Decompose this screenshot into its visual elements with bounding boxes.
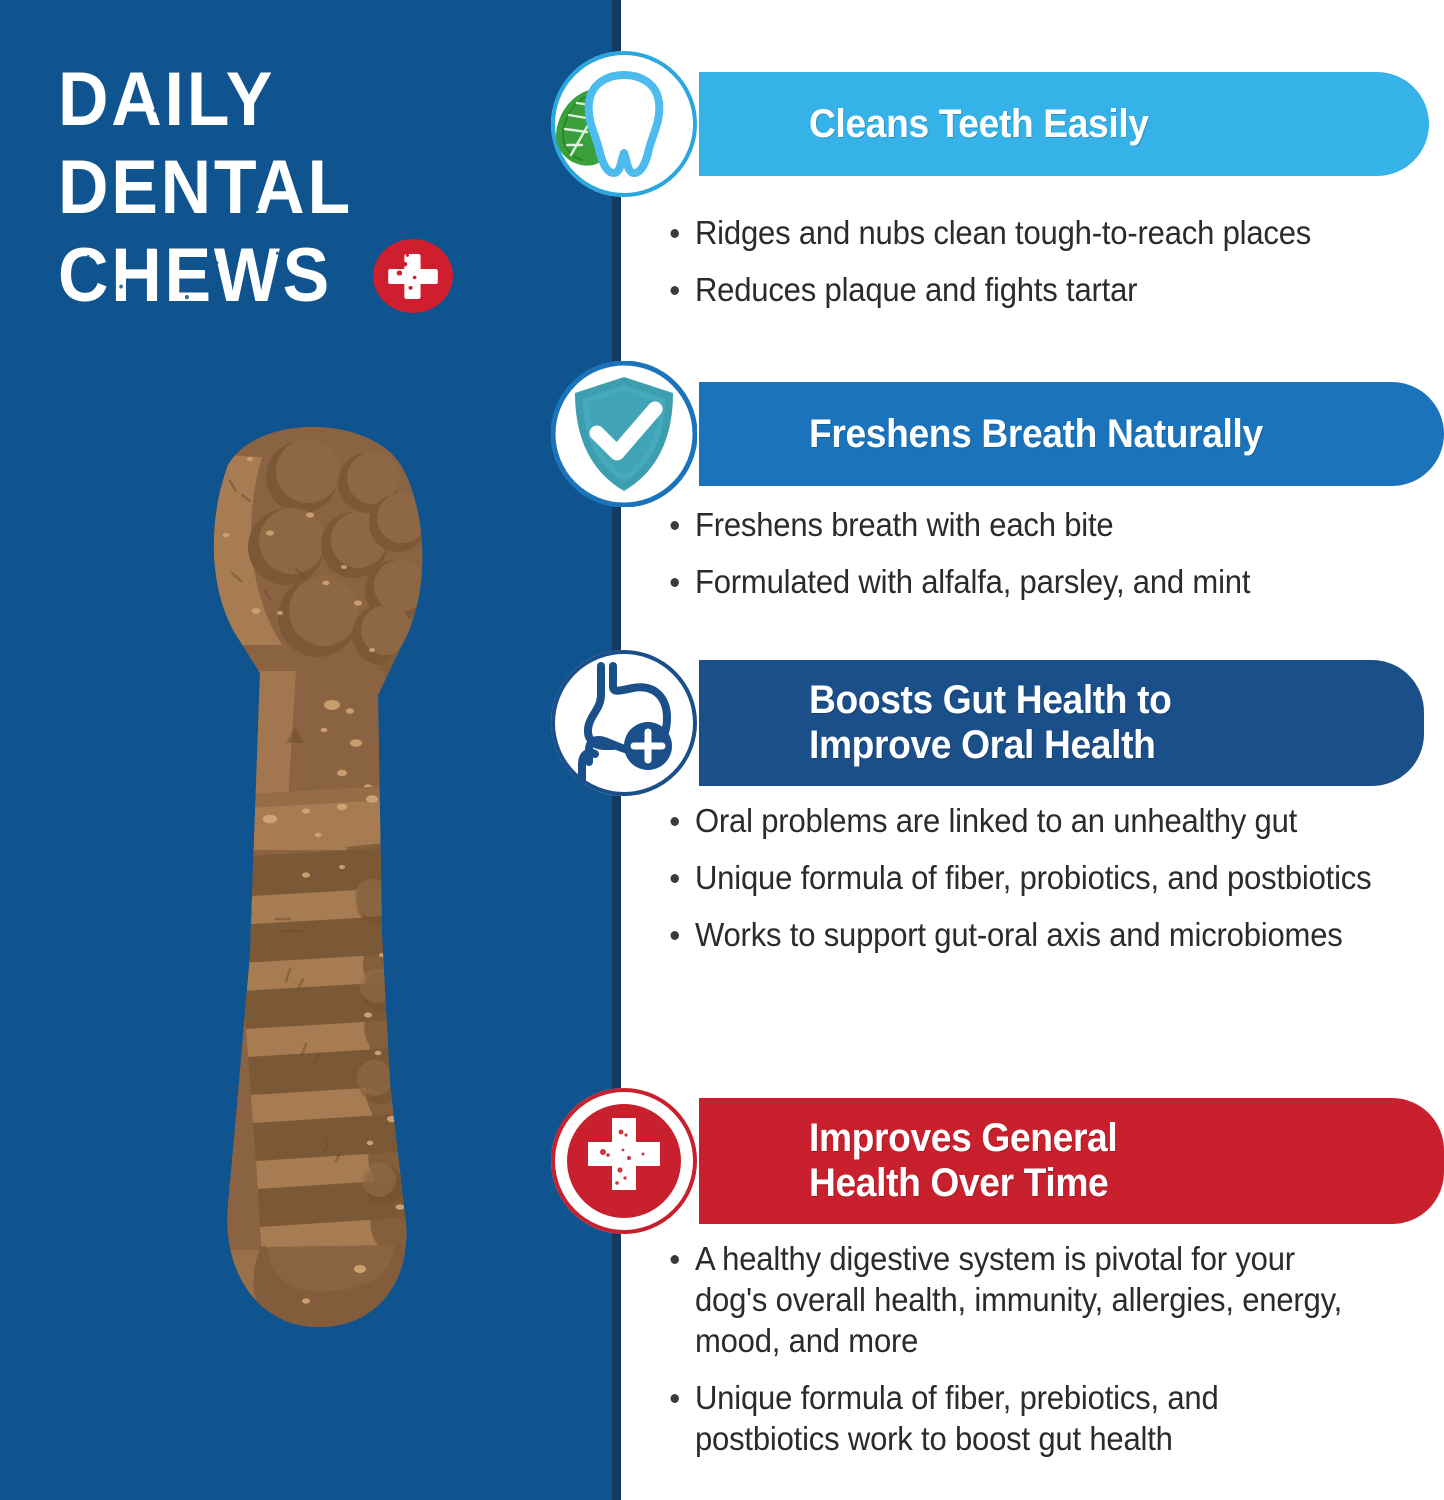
- list-item: Formulated with alfalfa, parsley, and mi…: [663, 561, 1387, 602]
- feature-title-freshens-breath: Freshens Breath Naturally: [809, 413, 1263, 456]
- bullet-list-improves-general-health: A healthy digestive system is pivotal fo…: [663, 1238, 1393, 1475]
- feature-banner-boosts-gut-health: Boosts Gut Health to Improve Oral Health: [699, 660, 1424, 786]
- feature-banner-freshens-breath: Freshens Breath Naturally: [699, 382, 1444, 486]
- medical-cross-icon: [373, 239, 453, 313]
- feature-title-improves-general-health: Improves General Health Over Time: [809, 1116, 1117, 1206]
- feature-banner-cleans-teeth: Cleans Teeth Easily: [699, 72, 1429, 176]
- feature-banner-improves-general-health: Improves General Health Over Time: [699, 1098, 1444, 1224]
- shield-check-icon: [551, 361, 697, 507]
- list-item: A healthy digestive system is pivotal fo…: [663, 1238, 1349, 1361]
- feature-title-boosts-gut-health: Boosts Gut Health to Improve Oral Health: [809, 678, 1171, 768]
- list-item: Ridges and nubs clean tough-to-reach pla…: [663, 212, 1387, 253]
- title-line-3-row: CHEWS: [58, 232, 518, 320]
- bullet-list-boosts-gut-health: Oral problems are linked to an unhealthy…: [663, 800, 1423, 971]
- list-item: Works to support gut-oral axis and micro…: [663, 914, 1377, 955]
- list-item: Oral problems are linked to an unhealthy…: [663, 800, 1377, 841]
- bullet-list-freshens-breath: Freshens breath with each bite Formulate…: [663, 504, 1433, 618]
- list-item: Reduces plaque and fights tartar: [663, 269, 1387, 310]
- stomach-plus-icon: [551, 650, 697, 796]
- dog-dental-chew-illustration: [110, 395, 510, 1375]
- page-title: DAILY DENTAL CHEWS: [58, 56, 518, 320]
- list-item: Freshens breath with each bite: [663, 504, 1387, 545]
- tooth-mint-leaf-icon: [551, 51, 697, 197]
- feature-title-cleans-teeth: Cleans Teeth Easily: [809, 103, 1149, 146]
- bullet-list-cleans-teeth: Ridges and nubs clean tough-to-reach pla…: [663, 212, 1433, 326]
- list-item: Unique formula of fiber, probiotics, and…: [663, 857, 1377, 898]
- title-line-2: DENTAL: [58, 144, 481, 232]
- medical-cross-circle-icon: [551, 1088, 697, 1234]
- feature-list: Cleans Teeth Easily: [621, 0, 1444, 1500]
- title-line-1: DAILY: [58, 56, 481, 144]
- title-line-3: CHEWS: [58, 232, 332, 320]
- product-infographic: DAILY DENTAL CHEWS: [0, 0, 1444, 1500]
- list-item: Unique formula of fiber, prebiotics, and…: [663, 1377, 1349, 1459]
